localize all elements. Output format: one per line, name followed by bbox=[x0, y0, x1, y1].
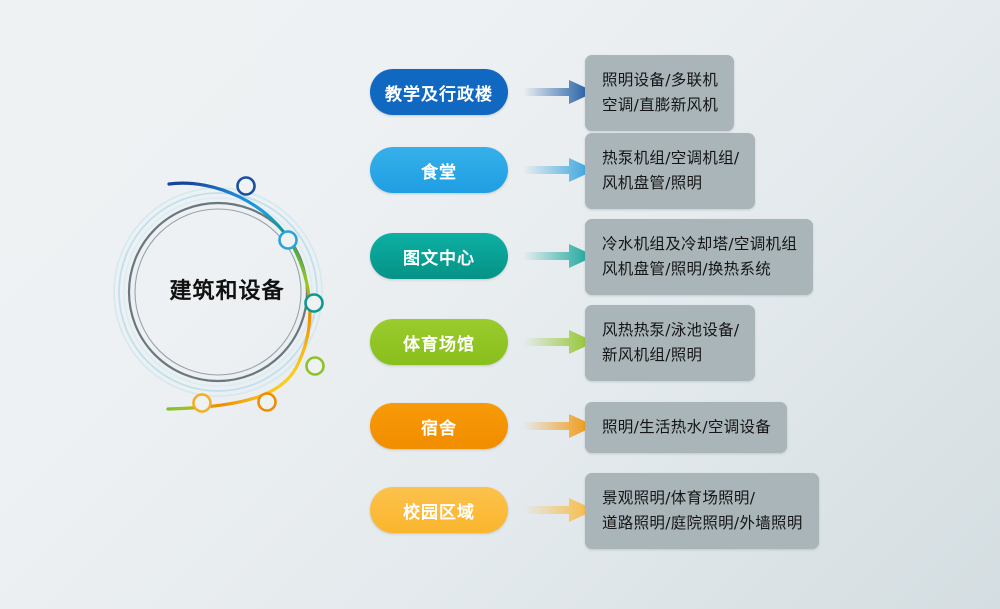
description-box-canteen: 热泵机组/空调机组/ 风机盘管/照明 bbox=[585, 133, 755, 209]
desc-line: 空调/直膨新风机 bbox=[602, 93, 718, 118]
pill-label: 宿舍 bbox=[421, 414, 457, 439]
category-pill-library-media-center[interactable]: 图文中心 bbox=[370, 233, 508, 279]
desc-line: 热泵机组/空调机组/ bbox=[602, 146, 739, 171]
description-box-sports-venue: 风热热泵/泳池设备/ 新风机组/照明 bbox=[585, 305, 755, 381]
central-emblem: 建筑和设备 bbox=[110, 160, 360, 420]
category-pill-campus-area[interactable]: 校园区域 bbox=[370, 487, 508, 533]
desc-line: 风热热泵/泳池设备/ bbox=[602, 318, 739, 343]
node-green-icon[interactable] bbox=[307, 358, 324, 375]
pill-label: 校园区域 bbox=[403, 498, 475, 523]
pill-label: 体育场馆 bbox=[403, 330, 475, 355]
desc-line: 道路照明/庭院照明/外墙照明 bbox=[602, 511, 803, 536]
description-box-dormitory: 照明/生活热水/空调设备 bbox=[585, 402, 787, 453]
pill-label: 图文中心 bbox=[403, 244, 475, 269]
desc-line: 新风机组/照明 bbox=[602, 343, 739, 368]
desc-line: 照明/生活热水/空调设备 bbox=[602, 415, 771, 440]
desc-line: 风机盘管/照明/换热系统 bbox=[602, 257, 797, 282]
node-blue-icon[interactable] bbox=[238, 178, 255, 195]
ring-inner bbox=[135, 209, 301, 375]
pill-label: 食堂 bbox=[421, 158, 457, 183]
category-pill-dormitory[interactable]: 宿舍 bbox=[370, 403, 508, 449]
description-box-library-media-center: 冷水机组及冷却塔/空调机组 风机盘管/照明/换热系统 bbox=[585, 219, 813, 295]
node-yellow-icon[interactable] bbox=[194, 395, 211, 412]
description-box-teaching-admin-building: 照明设备/多联机 空调/直膨新风机 bbox=[585, 55, 734, 131]
desc-line: 景观照明/体育场照明/ bbox=[602, 486, 803, 511]
category-pill-teaching-admin-building[interactable]: 教学及行政楼 bbox=[370, 69, 508, 115]
pill-label: 教学及行政楼 bbox=[385, 80, 493, 105]
desc-line: 冷水机组及冷却塔/空调机组 bbox=[602, 232, 797, 257]
description-box-campus-area: 景观照明/体育场照明/ 道路照明/庭院照明/外墙照明 bbox=[585, 473, 819, 549]
node-cyan-icon[interactable] bbox=[280, 232, 297, 249]
node-orange-icon[interactable] bbox=[259, 394, 276, 411]
category-pill-sports-venue[interactable]: 体育场馆 bbox=[370, 319, 508, 365]
desc-line: 风机盘管/照明 bbox=[602, 171, 739, 196]
category-pill-canteen[interactable]: 食堂 bbox=[370, 147, 508, 193]
desc-line: 照明设备/多联机 bbox=[602, 68, 718, 93]
diagram-canvas: 建筑和设备 教学及行政楼 照明设备/多联机 空调/直膨新风机 食堂 bbox=[0, 0, 1000, 609]
emblem-svg bbox=[110, 160, 360, 420]
halo-rings bbox=[114, 188, 322, 396]
node-teal-icon[interactable] bbox=[306, 295, 323, 312]
